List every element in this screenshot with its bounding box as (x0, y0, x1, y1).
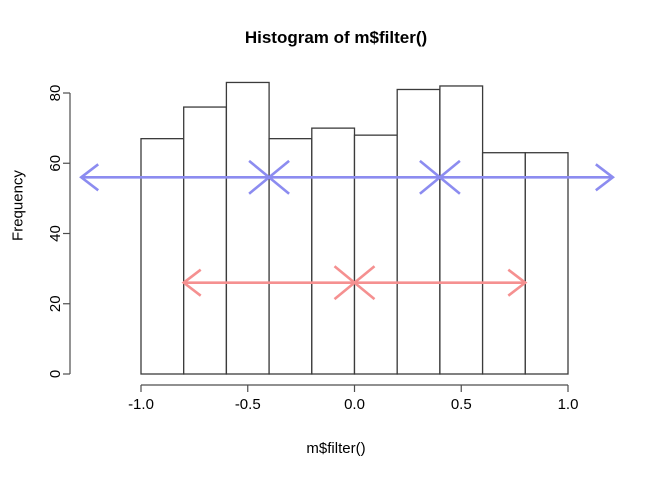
histogram-bar (440, 86, 483, 374)
histogram-bar (184, 107, 227, 374)
y-axis-tick-label: 40 (47, 225, 64, 242)
x-axis: -1.0-0.50.00.51.0 (128, 385, 578, 413)
x-axis-tick-label: 1.0 (558, 396, 579, 413)
histogram-bar (397, 89, 440, 374)
y-axis: 020406080 (47, 85, 70, 379)
y-axis-tick-label: 20 (47, 295, 64, 312)
histogram-bars (141, 82, 568, 374)
histogram-bar (226, 82, 269, 374)
histogram-bar (269, 139, 312, 374)
histogram-bar (312, 128, 355, 374)
histogram-bar (483, 153, 526, 374)
x-axis-tick-label: -0.5 (235, 396, 261, 413)
plot-canvas: 020406080 -1.0-0.50.00.51.0 (0, 0, 672, 480)
histogram-bar (141, 139, 184, 374)
y-axis-tick-label: 0 (47, 370, 64, 378)
y-axis-tick-label: 80 (47, 85, 64, 102)
x-axis-tick-label: 0.0 (344, 396, 365, 413)
histogram-bar (355, 135, 398, 374)
histogram-plot: Histogram of m$filter() Frequency m$filt… (0, 0, 672, 480)
histogram-bar (525, 153, 568, 374)
y-axis-tick-label: 60 (47, 155, 64, 172)
x-axis-tick-label: 0.5 (451, 396, 472, 413)
x-axis-tick-label: -1.0 (128, 396, 154, 413)
